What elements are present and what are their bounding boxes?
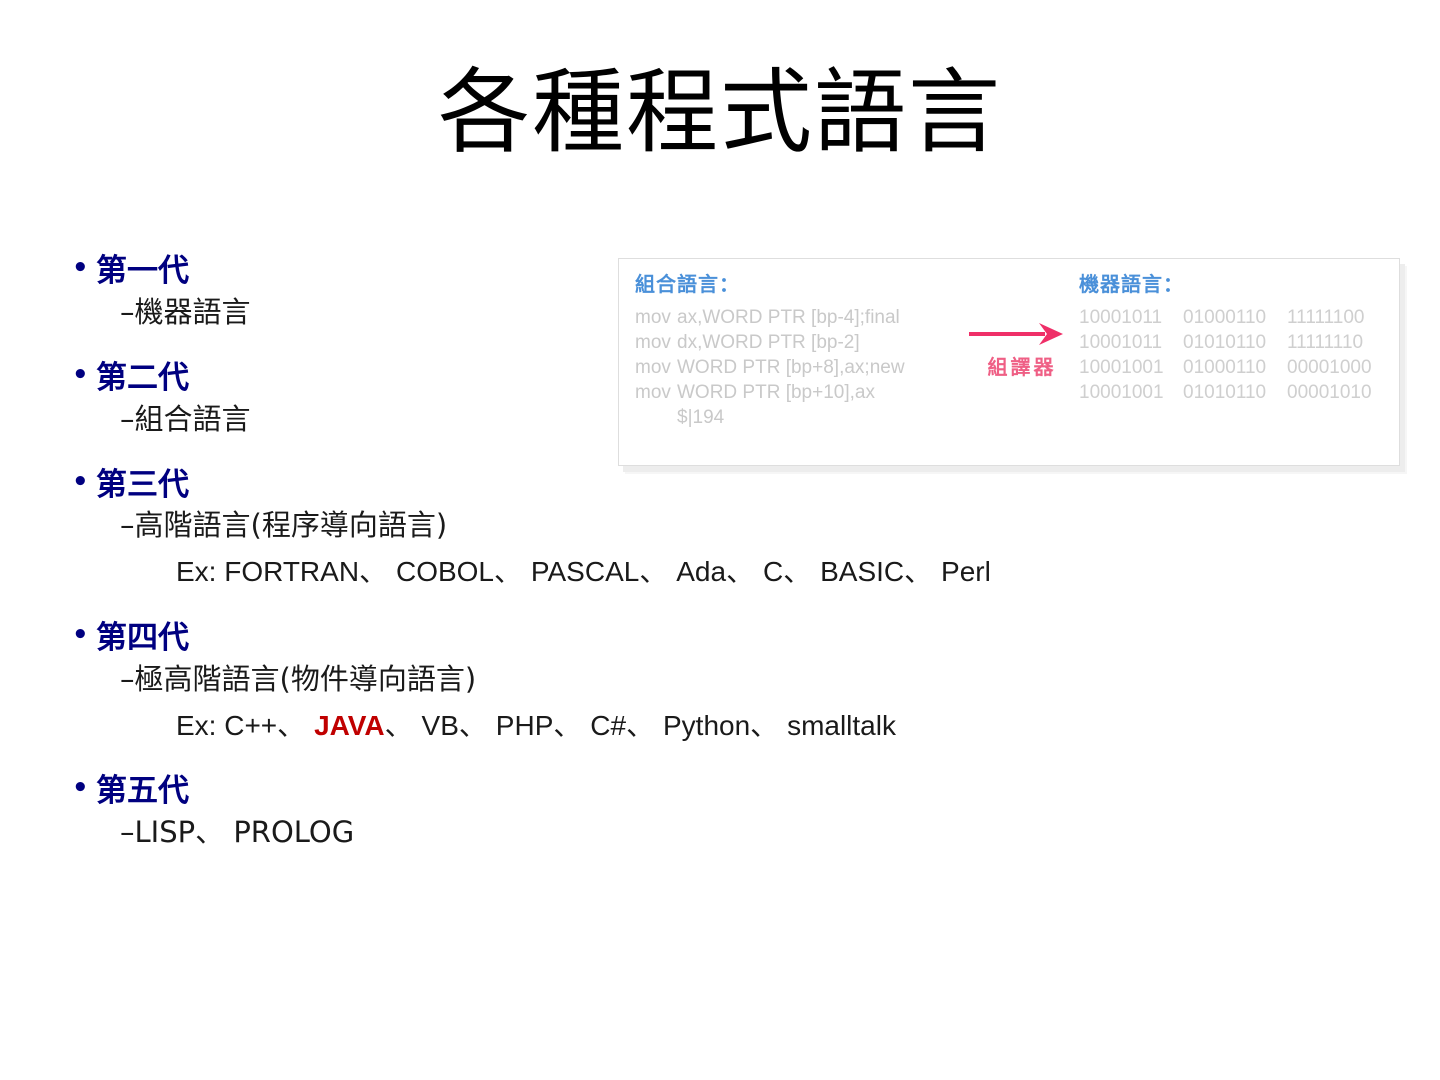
list-item: • 第五代 –LISP、 PROLOG (72, 772, 1072, 853)
machine-code-row: 100010110100011011111100 (1079, 305, 1391, 330)
example-separator: 、 (553, 709, 590, 742)
assembly-line: $|194 (635, 405, 905, 430)
example-separator: 、 (726, 555, 763, 588)
examples-prefix: Ex: (176, 710, 224, 741)
example-item: VB (422, 710, 459, 741)
bullet-icon: • (72, 252, 96, 285)
bullet-icon: • (72, 359, 96, 392)
generation-heading-label: 第一代 (96, 252, 189, 291)
bullet-icon: • (72, 466, 96, 499)
example-separator: 、 (359, 555, 396, 588)
example-item: COBOL (396, 556, 494, 587)
example-item: C# (590, 710, 626, 741)
assembly-opcode: mov (635, 355, 677, 380)
example-separator: 、 (277, 709, 314, 742)
examples-prefix: Ex: (176, 556, 224, 587)
assembly-machine-figure: 組合語言： movax,WORD PTR [bp-4];finalmovdx,W… (618, 258, 1400, 466)
generation-examples: Ex: FORTRAN、 COBOL、 PASCAL、 Ada、 C、 BASI… (176, 552, 1072, 593)
assembly-line: movax,WORD PTR [bp-4];final (635, 305, 905, 330)
example-separator: 、 (783, 555, 820, 588)
machine-code-word: 01000110 (1183, 305, 1287, 330)
example-separator: 、 (494, 555, 531, 588)
assembly-line: movWORD PTR [bp+10],ax (635, 380, 905, 405)
generation-heading: • 第五代 (72, 772, 1072, 811)
machine-code-word: 10001001 (1079, 355, 1183, 380)
generation-sub-label: –極高階語言(物件導向語言) (120, 658, 1072, 700)
machine-code-row: 100010110101011011111110 (1079, 330, 1391, 355)
machine-code-word: 01000110 (1183, 355, 1287, 380)
assembly-operands: dx,WORD PTR [bp-2] (677, 332, 860, 353)
example-separator: 、 (385, 709, 422, 742)
example-item: Perl (941, 556, 991, 587)
example-item: smalltalk (787, 710, 896, 741)
generation-heading: • 第三代 (72, 466, 1072, 505)
machine-code-word: 10001011 (1079, 305, 1183, 330)
example-item: PASCAL (531, 556, 639, 587)
assembly-operands: WORD PTR [bp+8],ax;new (677, 357, 905, 378)
assembly-operands: WORD PTR [bp+10],ax (677, 382, 875, 403)
generation-heading: • 第四代 (72, 619, 1072, 658)
assembly-code-block: movax,WORD PTR [bp-4];finalmovdx,WORD PT… (635, 305, 905, 430)
example-item: C (763, 556, 783, 587)
machine-code-block: 1000101101000110111111001000101101010110… (1079, 305, 1391, 405)
example-separator: 、 (459, 709, 496, 742)
bullet-icon: • (72, 772, 96, 805)
generation-heading-label: 第五代 (96, 772, 189, 811)
assembly-opcode: mov (635, 330, 677, 355)
assembly-line: movWORD PTR [bp+8],ax;new (635, 355, 905, 380)
generation-sub-label: –LISP、 PROLOG (120, 811, 1072, 853)
machine-column: 機器語言： 1000101101000110111111001000101101… (1079, 268, 1391, 405)
machine-code-row: 100010010101011000001010 (1079, 380, 1391, 405)
example-item: Python (663, 710, 750, 741)
generation-heading-label: 第二代 (96, 359, 189, 398)
assembly-opcode: mov (635, 305, 677, 330)
example-item: FORTRAN (224, 556, 359, 587)
machine-code-word: 10001011 (1079, 330, 1183, 355)
example-item: BASIC (820, 556, 904, 587)
machine-code-word: 11111110 (1287, 330, 1391, 355)
assembler-label: 組譯器 (967, 351, 1077, 380)
assembly-column: 組合語言： movax,WORD PTR [bp-4];finalmovdx,W… (635, 268, 905, 430)
machine-code-word: 01010110 (1183, 380, 1287, 405)
list-item: • 第三代 –高階語言(程序導向語言) Ex: FORTRAN、 COBOL、 … (72, 466, 1072, 593)
assembly-operands: ax,WORD PTR [bp-4];final (677, 307, 900, 328)
assembly-operands: $|194 (677, 407, 724, 428)
machine-code-word: 00001010 (1287, 380, 1391, 405)
machine-code-word: 01010110 (1183, 330, 1287, 355)
list-item: • 第四代 –極高階語言(物件導向語言) Ex: C++、 JAVA、 VB、 … (72, 619, 1072, 746)
example-item: C++ (224, 710, 277, 741)
generation-heading-label: 第三代 (96, 466, 189, 505)
machine-code-word: 11111100 (1287, 305, 1391, 330)
example-separator: 、 (626, 709, 663, 742)
generation-sub-label: –高階語言(程序導向語言) (120, 504, 1072, 546)
machine-code-word: 00001000 (1287, 355, 1391, 380)
generation-examples: Ex: C++、 JAVA、 VB、 PHP、 C#、 Python、 smal… (176, 706, 1072, 747)
example-separator: 、 (750, 709, 787, 742)
example-item: Ada (676, 556, 726, 587)
page-title: 各種程式語言 (0, 62, 1440, 163)
machine-code-word: 10001001 (1079, 380, 1183, 405)
assembly-opcode: mov (635, 380, 677, 405)
right-arrow-icon (967, 321, 1067, 347)
machine-heading: 機器語言： (1079, 268, 1391, 297)
generation-heading-label: 第四代 (96, 619, 189, 658)
example-item: JAVA (314, 710, 385, 741)
example-separator: 、 (639, 555, 676, 588)
assembly-heading: 組合語言： (635, 268, 905, 297)
assembler-group: 組譯器 (967, 321, 1077, 380)
example-separator: 、 (904, 555, 941, 588)
bullet-icon: • (72, 619, 96, 652)
assembly-line: movdx,WORD PTR [bp-2] (635, 330, 905, 355)
machine-code-row: 100010010100011000001000 (1079, 355, 1391, 380)
example-item: PHP (496, 710, 554, 741)
